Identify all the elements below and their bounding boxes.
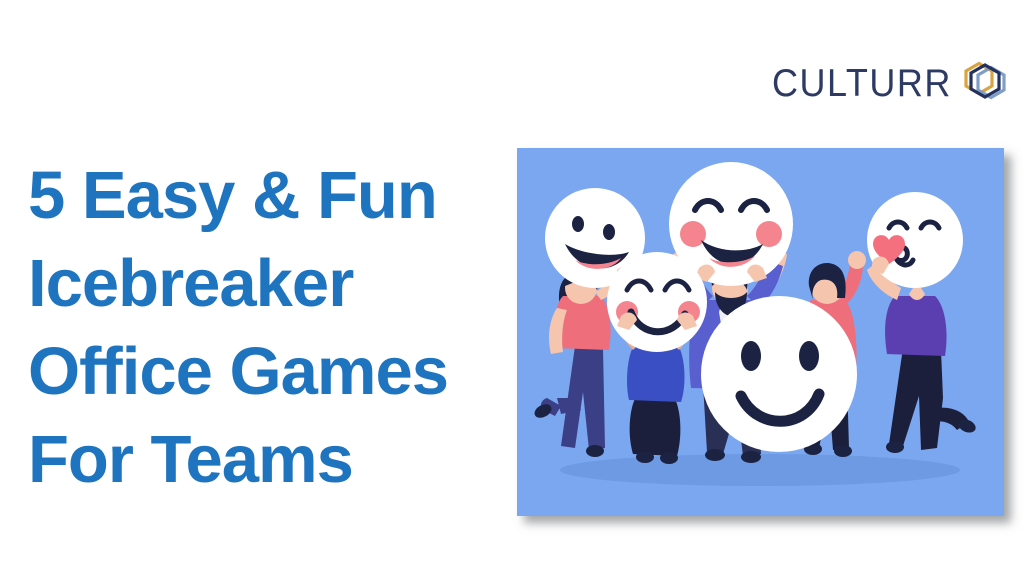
headline-line-2: Icebreaker — [28, 240, 498, 328]
brand-logo[interactable]: CULTURR — [772, 58, 1006, 108]
team-emoji-illustration: Five cartoon office coworkers holding ov… — [517, 148, 1004, 516]
headline-line-3: Office Games — [28, 328, 498, 416]
headline-line-4: For Teams — [28, 416, 498, 504]
page-title: 5 Easy & Fun Icebreaker Office Games For… — [28, 152, 498, 504]
headline-line-1: 5 Easy & Fun — [28, 152, 498, 240]
illustration-card: Five cartoon office coworkers holding ov… — [517, 148, 1004, 516]
mask-closed-eyes-smiling-face — [607, 252, 707, 352]
hexagon-logo-icon — [960, 58, 1006, 108]
mask-big-smiley-face — [701, 296, 857, 452]
brand-wordmark: CULTURR — [772, 64, 952, 103]
